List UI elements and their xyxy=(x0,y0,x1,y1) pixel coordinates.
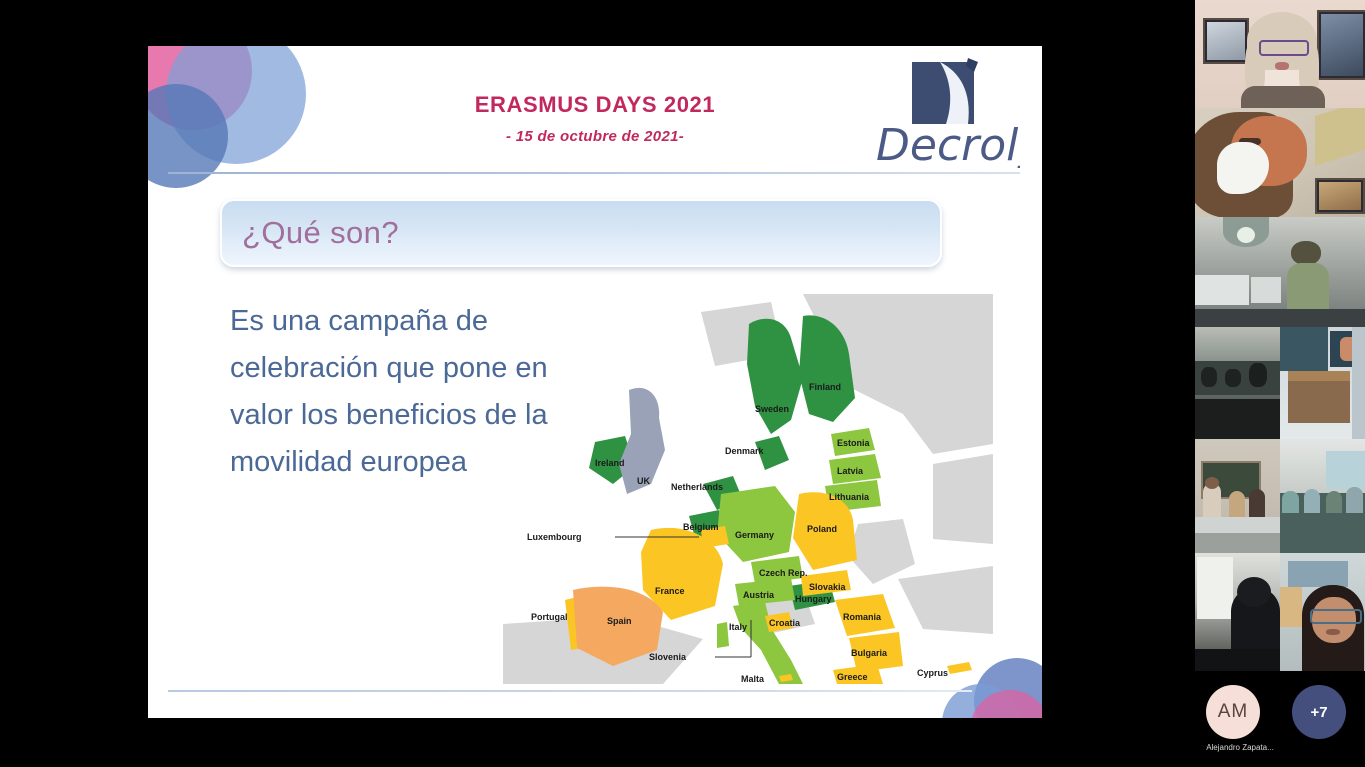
map-label-denmark: Denmark xyxy=(725,446,765,456)
map-label-malta: Malta xyxy=(741,674,765,684)
participant-tile-2[interactable] xyxy=(1195,108,1365,217)
map-label-cyprus: Cyprus xyxy=(917,668,948,678)
meeting-screen: ERASMUS DAYS 2021 - 15 de octubre de 202… xyxy=(0,0,1365,767)
map-label-latvia: Latvia xyxy=(837,466,864,476)
map-label-poland: Poland xyxy=(807,524,837,534)
map-label-bulgaria: Bulgaria xyxy=(851,648,888,658)
section-banner-label: ¿Qué son? xyxy=(242,215,399,251)
more-participants-badge[interactable]: +7 xyxy=(1292,685,1346,739)
country-sweden xyxy=(747,319,803,434)
map-label-luxembourg: Luxembourg xyxy=(527,532,582,542)
map-label-romania: Romania xyxy=(843,612,882,622)
participant-tile-8[interactable] xyxy=(1195,553,1280,671)
decroly-wordmark: Decroly xyxy=(876,120,1020,168)
participant-tile-1[interactable] xyxy=(1195,0,1365,108)
map-label-slovakia: Slovakia xyxy=(809,582,847,592)
map-label-ireland: Ireland xyxy=(595,458,625,468)
map-label-uk: UK xyxy=(637,476,650,486)
more-participants-count: +7 xyxy=(1310,704,1327,721)
participant-tile-3[interactable] xyxy=(1195,217,1365,327)
map-label-spain: Spain xyxy=(607,616,632,626)
map-label-hungary: Hungary xyxy=(795,594,832,604)
header-divider xyxy=(168,172,1020,174)
map-label-portugal: Portugal xyxy=(531,612,568,622)
map-label-italy: Italy xyxy=(729,622,747,632)
footer-divider xyxy=(168,690,972,692)
map-label-lithuania: Lithuania xyxy=(829,492,870,502)
map-label-sweden: Sweden xyxy=(755,404,789,414)
participant-tile-7[interactable] xyxy=(1280,439,1365,553)
avatar-name: Alejandro Zapata... xyxy=(1190,743,1290,752)
shared-slide: ERASMUS DAYS 2021 - 15 de octubre de 202… xyxy=(148,46,1042,718)
section-banner: ¿Qué son? xyxy=(220,199,942,267)
slide-header: ERASMUS DAYS 2021 - 15 de octubre de 202… xyxy=(148,46,1042,178)
map-label-finland: Finland xyxy=(809,382,841,392)
map-label-czech: Czech Rep. xyxy=(759,568,808,578)
europe-map: Finland Sweden Estonia Latvia Lithuania … xyxy=(503,294,993,684)
participant-tile-5[interactable] xyxy=(1280,327,1365,439)
participant-tile-4[interactable] xyxy=(1195,327,1280,439)
decroly-logo: Decroly xyxy=(868,56,1020,168)
map-label-france: France xyxy=(655,586,685,596)
decorative-circle-pink-bottom xyxy=(970,690,1042,718)
participant-tile-9[interactable] xyxy=(1280,553,1365,671)
participant-footer: AM Alejandro Zapata... +7 xyxy=(1190,671,1365,767)
participant-tile-6[interactable] xyxy=(1195,439,1280,553)
map-label-netherlands: Netherlands xyxy=(671,482,723,492)
map-label-croatia: Croatia xyxy=(769,618,801,628)
map-label-greece: Greece xyxy=(837,672,868,682)
country-germany xyxy=(717,486,795,562)
island-cyprus xyxy=(947,662,972,674)
avatar-initials: AM xyxy=(1218,701,1249,723)
map-label-slovenia: Slovenia xyxy=(649,652,687,662)
map-label-austria: Austria xyxy=(743,590,775,600)
participant-video-rail[interactable]: AM Alejandro Zapata... +7 xyxy=(1190,0,1365,767)
island-sardinia xyxy=(717,622,729,648)
avatar[interactable]: AM xyxy=(1206,685,1260,739)
map-label-belgium: Belgium xyxy=(683,522,719,532)
map-label-germany: Germany xyxy=(735,530,774,540)
map-label-estonia: Estonia xyxy=(837,438,871,448)
